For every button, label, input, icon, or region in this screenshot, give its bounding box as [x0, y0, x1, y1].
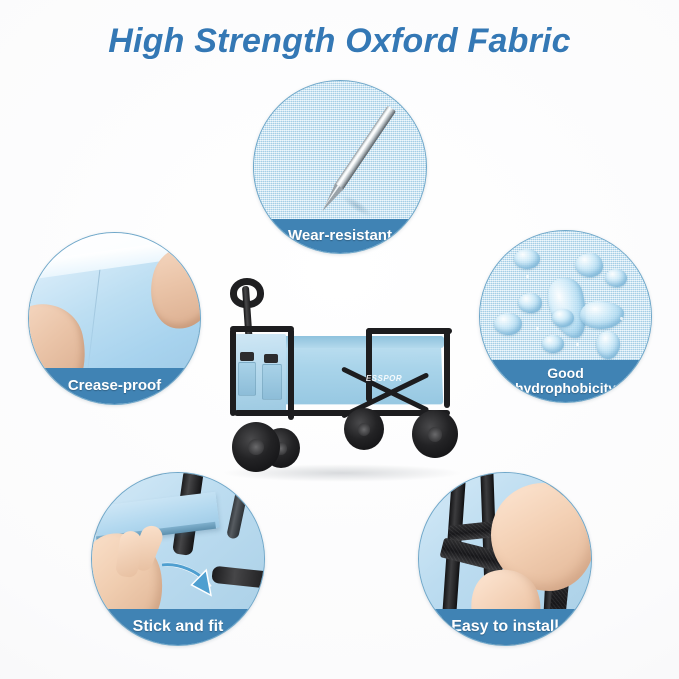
water-mist: [576, 343, 579, 346]
feature-banner-easy-to-install: Easy to install: [419, 609, 591, 645]
feature-banner-wear-resistant: Wear-resistant: [254, 219, 426, 253]
wagon-fabric-rim: [282, 336, 444, 348]
water-droplet: [514, 249, 540, 269]
frame-rail-right: [366, 328, 452, 334]
water-droplet: [542, 335, 564, 353]
feature-label: Crease-proof: [68, 378, 161, 394]
feature-banner-stick-and-fit: Stick and fit: [92, 609, 264, 645]
water-mist: [620, 317, 623, 320]
water-droplet: [575, 253, 603, 277]
feature-circle-stick-and-fit: Stick and fit: [91, 472, 265, 646]
feature-label: Stick and fit: [133, 619, 224, 636]
frame-post: [288, 328, 294, 420]
blue-arrow-icon: [160, 561, 224, 609]
water-droplet: [494, 313, 522, 335]
side-pocket: [262, 364, 282, 400]
frame-post: [366, 328, 372, 402]
pocket-strap: [240, 352, 254, 361]
feature-label-line2: hydrophobicity: [515, 381, 616, 396]
pocket-strap: [264, 354, 278, 363]
page-title: High Strength Oxford Fabric: [0, 22, 679, 61]
wheel-rear-left: [344, 408, 384, 450]
feature-label-line1: Good: [547, 366, 584, 381]
water-droplet: [518, 293, 542, 313]
frame-rail-left: [230, 326, 294, 332]
brand-logo: ESSPOR: [358, 368, 410, 388]
water-droplet: [605, 269, 627, 287]
water-mist: [526, 275, 529, 278]
frame-post: [230, 328, 236, 416]
feature-circle-crease-proof: Crease-proof: [28, 232, 201, 405]
feature-banner-crease-proof: Crease-proof: [29, 368, 200, 404]
water-droplet: [552, 309, 574, 327]
feature-circle-easy-to-install: Easy to install: [418, 472, 592, 646]
wheel-front-left: [232, 422, 280, 472]
side-pocket: [238, 362, 256, 396]
feature-label: Wear-resistant: [288, 228, 392, 244]
feature-label: Easy to install: [451, 619, 559, 636]
feature-circle-hydrophobicity: Good hydrophobicity: [479, 230, 652, 403]
water-mist: [536, 327, 539, 330]
feature-banner-hydrophobicity: Good hydrophobicity: [480, 360, 651, 402]
feature-circle-wear-resistant: Wear-resistant: [253, 80, 427, 254]
frame-post: [444, 328, 450, 408]
wheel-rear-right: [412, 410, 458, 458]
frame-bottom-bar: [234, 410, 450, 416]
product-folding-wagon: ESSPOR: [216, 282, 456, 482]
